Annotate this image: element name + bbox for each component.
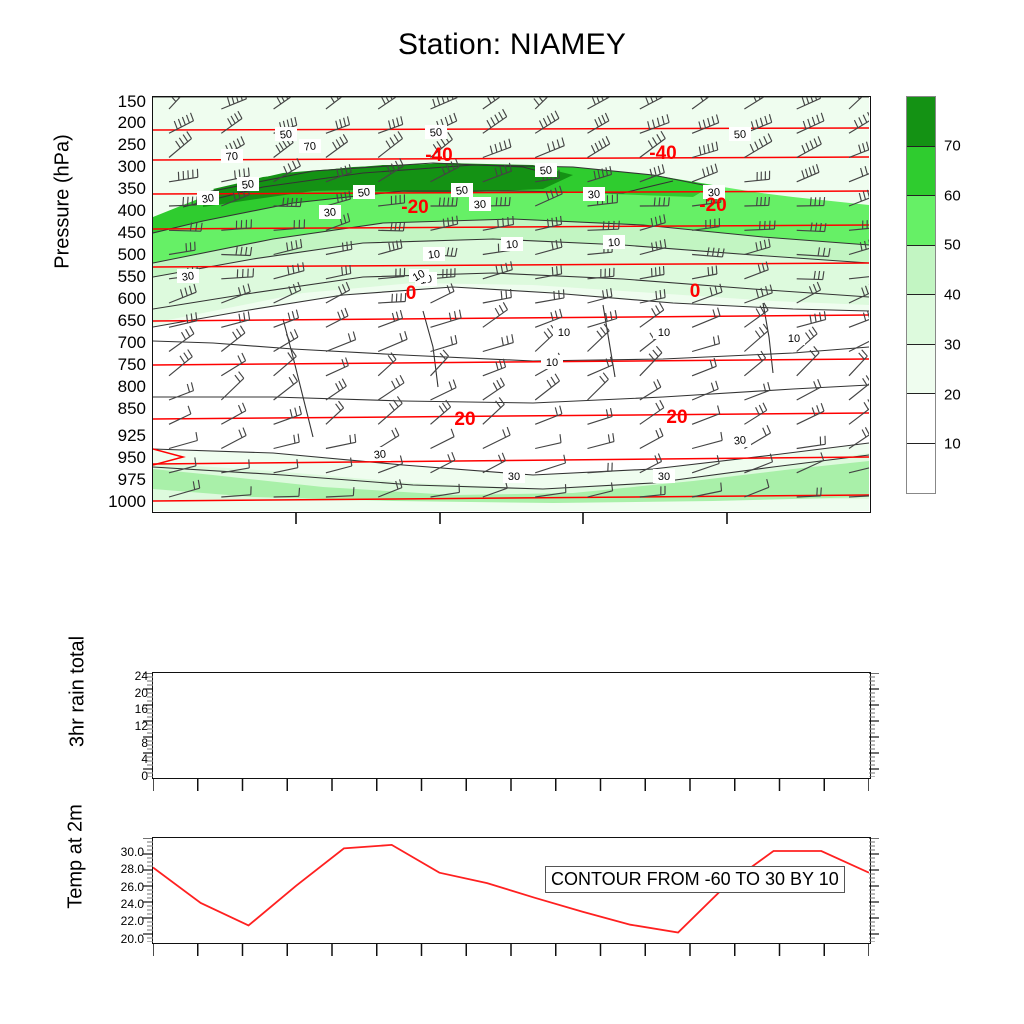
svg-text:20: 20: [454, 409, 475, 430]
rain-x-axis-ticks: [153, 778, 869, 800]
colorbar-cell-5: [907, 345, 935, 395]
wind-label: 70: [221, 149, 243, 164]
colorbar-cell-0: [907, 97, 935, 147]
svg-text:10: 10: [546, 357, 558, 369]
main-plot-labels: 70 70 50 50 50 50 50 50 50 30 30 30 30 3…: [153, 97, 869, 511]
colorbar-cell-7: [907, 444, 935, 494]
main-y-tick-150: 150: [118, 92, 146, 112]
main-x-axis-ticks: [152, 513, 871, 529]
wind-label: 30: [197, 191, 219, 206]
svg-text:10: 10: [658, 327, 670, 339]
svg-text:30: 30: [508, 471, 520, 483]
wind-label: 30: [583, 187, 605, 202]
temp-y-minor-ticks: [136, 838, 154, 942]
colorbar-cell-1: [907, 147, 935, 197]
wind-label: 30: [503, 469, 525, 483]
contour-annotation: CONTOUR FROM -60 TO 30 BY 10: [545, 866, 845, 893]
svg-text:50: 50: [241, 178, 255, 192]
svg-text:30: 30: [658, 471, 670, 483]
colorbar-label-40: 40: [944, 287, 961, 304]
rain-y-minor-ticks: [136, 673, 154, 777]
main-y-tick-500: 500: [118, 245, 146, 265]
wind-label: 30: [469, 197, 491, 212]
main-y-tick-700: 700: [118, 333, 146, 353]
svg-text:30: 30: [181, 270, 195, 284]
main-y-tick-650: 650: [118, 311, 146, 331]
svg-text:10: 10: [607, 237, 620, 250]
main-y-tick-200: 200: [118, 113, 146, 133]
temp-x-axis-ticks: [153, 943, 869, 965]
svg-text:30: 30: [201, 192, 215, 206]
svg-text:50: 50: [357, 186, 371, 200]
chart-canvas: Station: NIAMEY Pressure (hPa) 150200250…: [0, 0, 1024, 1024]
main-y-tick-1000: 1000: [108, 492, 146, 512]
wind-label: 30: [369, 447, 391, 462]
svg-text:10: 10: [427, 248, 440, 261]
wind-label: 50: [237, 177, 259, 192]
main-plot-frame: 70 70 50 50 50 50 50 50 50 30 30 30 30 3…: [152, 96, 871, 513]
svg-text:30: 30: [323, 206, 336, 219]
wind-label: 50: [451, 183, 473, 198]
wind-speed-cross-section-panel: 70 70 50 50 50 50 50 50 50 30 30 30 30 3…: [152, 96, 871, 513]
wind-label: 50: [275, 127, 297, 142]
svg-text:30: 30: [473, 198, 486, 211]
svg-text:20: 20: [666, 407, 687, 428]
wind-label: 30: [653, 469, 675, 483]
colorbar-label-10: 10: [944, 436, 961, 453]
wind-label: 10: [501, 237, 523, 251]
main-y-tick-400: 400: [118, 201, 146, 221]
svg-text:70: 70: [303, 140, 316, 153]
temperature-label: -40 -40 -20 -20 0 0 20 20: [401, 143, 726, 430]
svg-text:10: 10: [505, 239, 518, 252]
colorbar-cell-6: [907, 394, 935, 444]
colorbar-cell-2: [907, 196, 935, 246]
wind-label: 10: [783, 331, 805, 345]
svg-text:30: 30: [587, 188, 600, 201]
colorbar-tick-labels: 70605040302010: [944, 96, 1004, 494]
wind-label: 10: [541, 355, 563, 369]
svg-text:10: 10: [788, 333, 800, 345]
colorbar-label-70: 70: [944, 137, 961, 154]
svg-text:50: 50: [539, 164, 552, 177]
main-y-axis-tick-labels: 1502002503003504004505005506006507007508…: [70, 96, 146, 513]
main-y-tick-550: 550: [118, 267, 146, 287]
main-y-tick-925: 925: [118, 426, 146, 446]
colorbar-cell-3: [907, 246, 935, 296]
main-y-tick-850: 850: [118, 399, 146, 419]
svg-text:50: 50: [279, 128, 292, 141]
temp-y-minor-ticks-right: [869, 838, 887, 942]
svg-text:50: 50: [455, 184, 469, 198]
wind-label: 50: [535, 163, 557, 178]
main-y-tick-300: 300: [118, 157, 146, 177]
main-y-tick-950: 950: [118, 448, 146, 468]
wind-speed-colorbar: [906, 96, 936, 494]
colorbar-label-20: 20: [944, 386, 961, 403]
rain-plot-svg: [153, 673, 869, 777]
temp-panel-y-axis-title: Temp at 2m: [65, 767, 88, 947]
wind-label: 10: [603, 235, 625, 249]
wind-label: 10: [423, 247, 445, 262]
colorbar-label-50: 50: [944, 237, 961, 254]
colorbar-label-60: 60: [944, 187, 961, 204]
wind-label: 50: [353, 185, 375, 200]
wind-label: 10: [553, 325, 575, 339]
svg-text:30: 30: [733, 434, 746, 447]
page-title: Station: NIAMEY: [0, 28, 1024, 62]
svg-text:70: 70: [225, 150, 238, 163]
svg-text:50: 50: [733, 129, 746, 142]
wind-label: 30: [319, 205, 341, 220]
rain-total-panel: [152, 672, 871, 779]
main-y-tick-600: 600: [118, 289, 146, 309]
svg-text:30: 30: [373, 448, 386, 461]
svg-text:0: 0: [406, 283, 417, 304]
svg-text:-40: -40: [649, 143, 676, 164]
wind-label: 30: [177, 269, 199, 284]
wind-label: 10: [653, 325, 675, 339]
svg-text:10: 10: [558, 327, 570, 339]
main-y-tick-350: 350: [118, 179, 146, 199]
wind-label: 50: [729, 127, 751, 141]
svg-text:-40: -40: [425, 145, 452, 166]
svg-text:-20: -20: [699, 195, 726, 216]
colorbar-cell-4: [907, 295, 935, 345]
wind-label: 30: [729, 433, 751, 448]
svg-text:-20: -20: [401, 197, 428, 218]
rain-panel-y-axis-title: 3hr rain total: [67, 602, 90, 782]
main-y-tick-450: 450: [118, 223, 146, 243]
colorbar-label-30: 30: [944, 336, 961, 353]
main-y-tick-800: 800: [118, 377, 146, 397]
wind-label: 50: [425, 125, 447, 140]
wind-label: 10: [409, 268, 429, 285]
rain-y-minor-ticks-right: [869, 673, 887, 777]
main-y-tick-250: 250: [118, 135, 146, 155]
svg-text:50: 50: [429, 126, 442, 139]
wind-label: 70: [299, 139, 321, 154]
svg-text:0: 0: [690, 281, 701, 302]
main-y-tick-750: 750: [118, 355, 146, 375]
main-y-tick-975: 975: [118, 470, 146, 490]
